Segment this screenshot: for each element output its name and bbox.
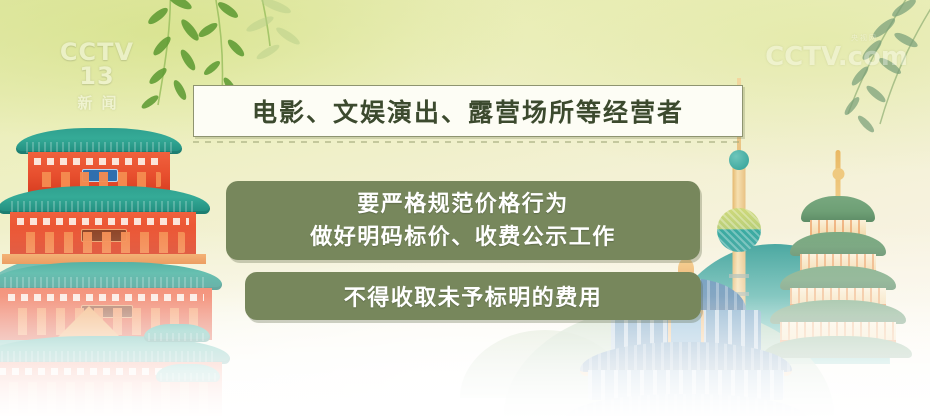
palace-roof-2 xyxy=(0,186,210,214)
broadcast-screenshot: CCTV 13 新闻 央视网CCTV.com 电影、文娱演出、露营场所等经营者 … xyxy=(0,0,930,416)
pearl-tower-upper-sphere xyxy=(729,150,749,170)
cctv-com-sub-label: 央视网 xyxy=(851,35,878,42)
cctv-com-watermark: 央视网CCTV.com xyxy=(765,44,908,70)
banner-rule-1-line-2: 做好明码标价、收费公示工作 xyxy=(310,221,616,254)
cctv-com-brand: CCTV xyxy=(765,42,838,72)
cctv13-logo-line1: CCTV 13 xyxy=(38,40,156,88)
banner-title: 电影、文娱演出、露营场所等经营者 xyxy=(193,85,743,137)
pagoda-roof-1 xyxy=(801,196,875,222)
cctv-com-dot: . xyxy=(838,42,848,72)
cctv-com-suffix: com xyxy=(848,42,908,72)
banner-rule-2-line-1: 不得收取未予标明的费用 xyxy=(344,280,603,312)
banner-rule-1: 要严格规范价格行为 做好明码标价、收费公示工作 xyxy=(226,181,700,260)
banner-title-text: 电影、文娱演出、露营场所等经营者 xyxy=(252,93,684,129)
cctv13-channel-logo: CCTV 13 新闻 xyxy=(38,40,156,113)
cctv13-logo-line2: 新闻 xyxy=(38,92,156,113)
pagoda-spire xyxy=(836,150,841,200)
banner-rule-2: 不得收取未予标明的费用 xyxy=(245,272,701,320)
palace-windows-1 xyxy=(37,172,162,187)
banner-rule-1-line-1: 要严格规范价格行为 xyxy=(357,188,569,221)
banner-title-shadow-dots xyxy=(193,141,741,143)
palace-roof-1 xyxy=(16,128,182,154)
